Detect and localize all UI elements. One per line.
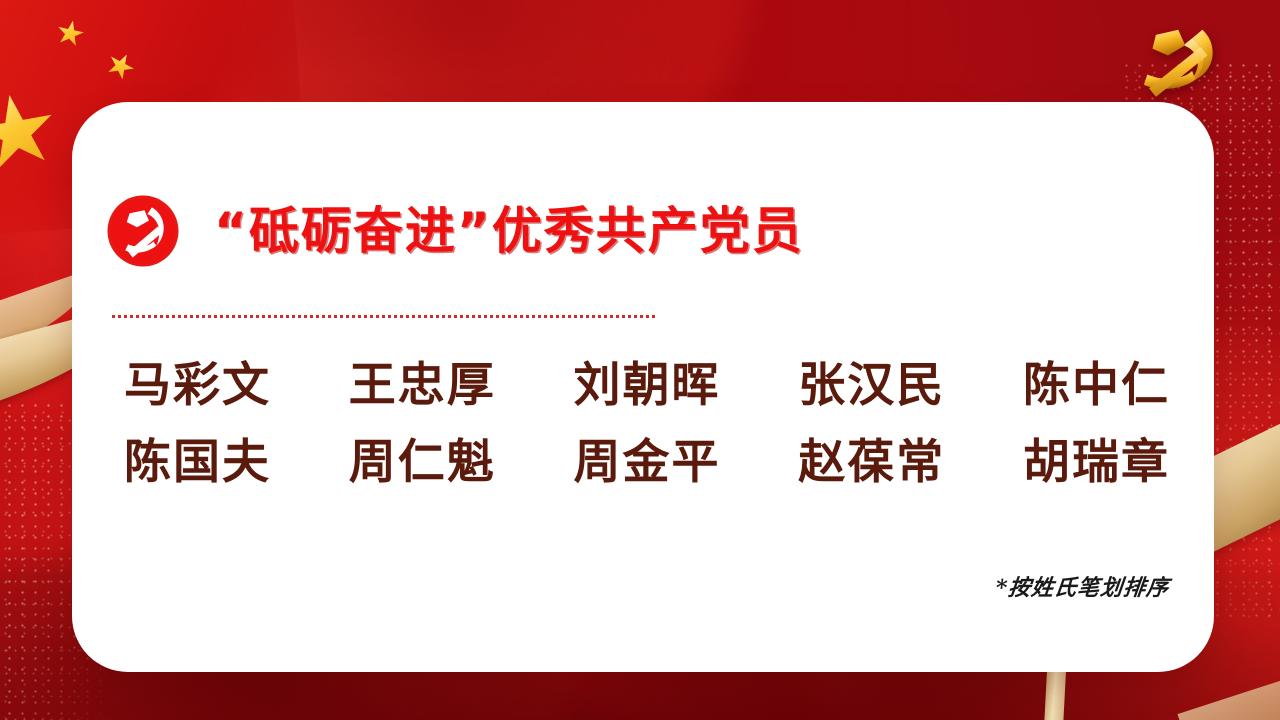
honoree-name: 张汉民 [798,354,945,419]
honoree-name: 周仁魁 [349,431,496,496]
slide-root: “砥砺奋进”优秀共产党员 马彩文 王忠厚 刘朝晖 张汉民 陈中仁 陈国夫 周仁魁… [0,0,1280,720]
honoree-name: 赵葆常 [798,431,945,496]
title-row: “砥砺奋进”优秀共产党员 [106,194,804,268]
honoree-row: 马彩文 王忠厚 刘朝晖 张汉民 陈中仁 [124,354,1170,419]
sort-note: *按姓氏笔划排序 [995,570,1172,602]
cpc-party-badge-icon [106,194,180,268]
content-card: “砥砺奋进”优秀共产党员 马彩文 王忠厚 刘朝晖 张汉民 陈中仁 陈国夫 周仁魁… [72,102,1214,672]
honoree-name: 陈国夫 [124,431,271,496]
honoree-row: 陈国夫 周仁魁 周金平 赵葆常 胡瑞章 [124,431,1170,496]
honoree-name: 胡瑞章 [1023,431,1170,496]
cpc-gold-emblem-icon [1128,16,1232,102]
honoree-name: 周金平 [574,431,721,496]
honoree-name: 刘朝晖 [574,354,721,419]
honoree-name: 陈中仁 [1023,354,1170,419]
page-title: “砥砺奋进”优秀共产党员 [214,206,804,256]
dotted-divider [112,315,657,318]
honoree-name: 马彩文 [124,354,271,419]
honoree-name: 王忠厚 [349,354,496,419]
honoree-list: 马彩文 王忠厚 刘朝晖 张汉民 陈中仁 陈国夫 周仁魁 周金平 赵葆常 胡瑞章 [124,354,1170,508]
